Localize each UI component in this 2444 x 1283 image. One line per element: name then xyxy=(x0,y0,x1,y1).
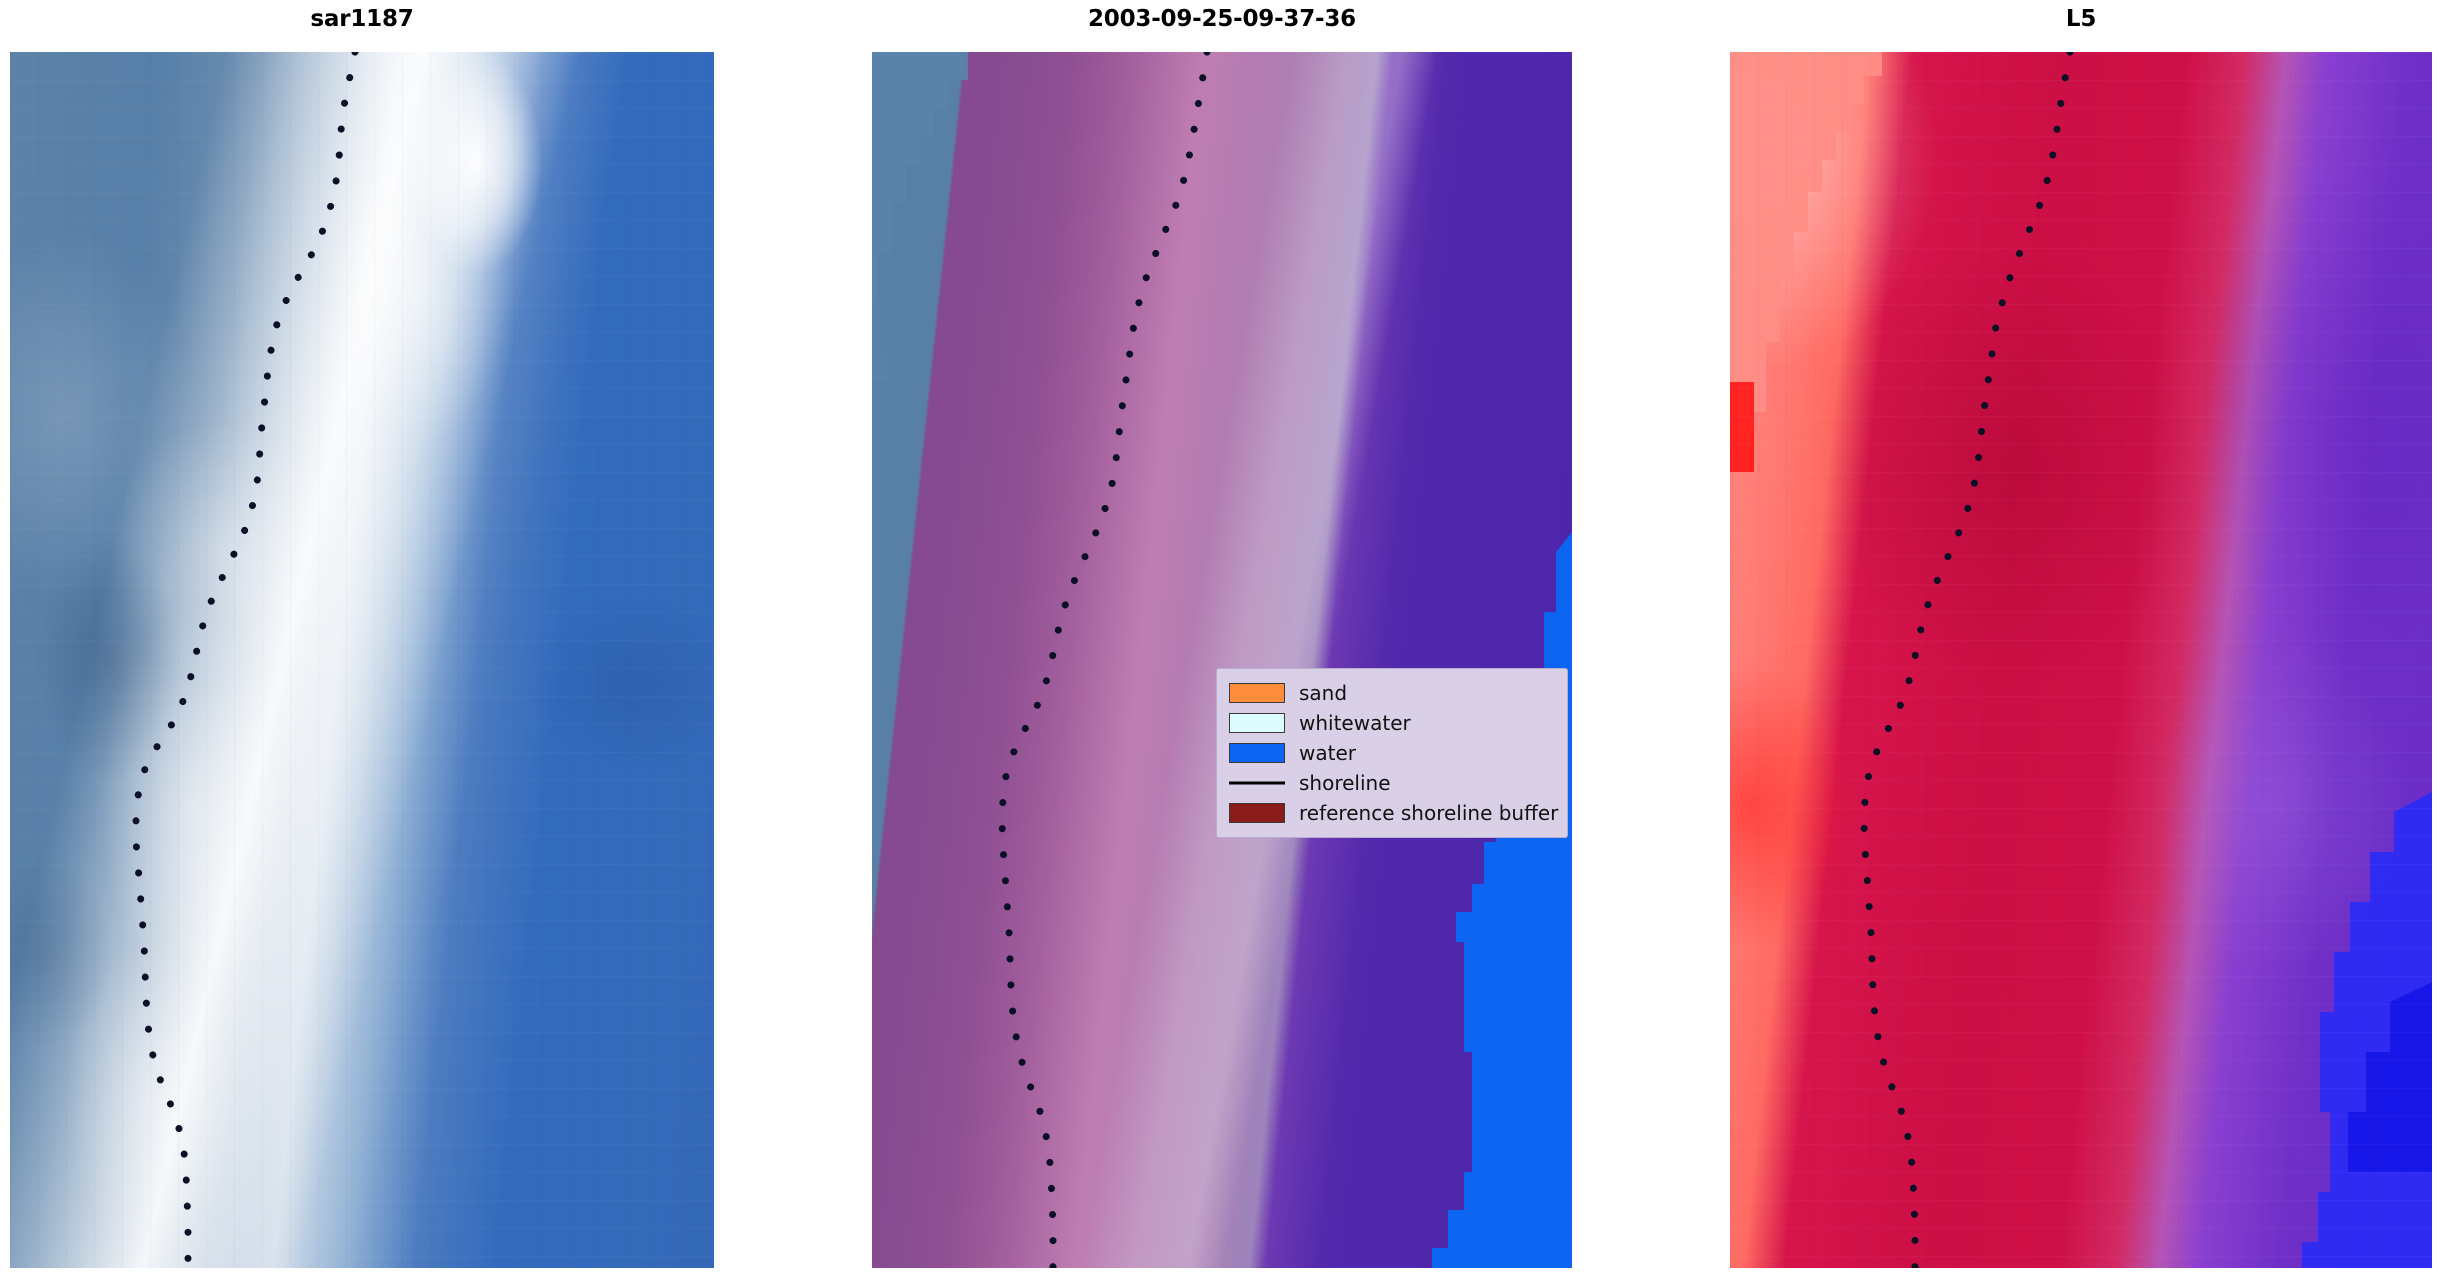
l5-pixel-grid xyxy=(1730,52,2432,1268)
whitewater-swatch-icon xyxy=(1229,713,1285,733)
panel-satellite-l5: L5 xyxy=(1730,0,2432,1283)
panel-image-sar[interactable] xyxy=(10,52,714,1268)
panel-title-sar: sar1187 xyxy=(10,4,714,34)
legend-item-shoreline[interactable]: shoreline xyxy=(1229,768,1557,798)
panel-image-classified[interactable]: sand whitewater water shoreline referenc… xyxy=(872,52,1572,1268)
panel-classified-image: 2003-09-25-09-37-36 sand xyxy=(872,0,1572,1283)
legend-item-water[interactable]: water xyxy=(1229,738,1557,768)
legend-item-reference-buffer[interactable]: reference shoreline buffer xyxy=(1229,798,1557,828)
legend-label-water: water xyxy=(1299,742,1356,764)
sand-swatch-icon xyxy=(1229,683,1285,703)
panel-title-l5: L5 xyxy=(1730,4,2432,34)
sar-pixel-grid xyxy=(10,52,714,1268)
legend-label-whitewater: whitewater xyxy=(1299,712,1411,734)
panel-title-classified: 2003-09-25-09-37-36 xyxy=(872,4,1572,34)
water-swatch-icon xyxy=(1229,743,1285,763)
figure-canvas: sar1187 2003-09-25-09-37-36 xyxy=(0,0,2444,1283)
legend-label-shoreline: shoreline xyxy=(1299,772,1391,794)
classified-region-shapes xyxy=(872,52,1572,1268)
shoreline-line-icon xyxy=(1229,773,1285,793)
reference-buffer-swatch-icon xyxy=(1229,803,1285,823)
legend-box[interactable]: sand whitewater water shoreline referenc… xyxy=(1216,668,1568,838)
legend-item-whitewater[interactable]: whitewater xyxy=(1229,708,1557,738)
panel-sar-image: sar1187 xyxy=(10,0,714,1283)
legend-label-sand: sand xyxy=(1299,682,1347,704)
legend-label-reference-buffer: reference shoreline buffer xyxy=(1299,802,1558,824)
legend-item-sand[interactable]: sand xyxy=(1229,678,1557,708)
panel-image-l5[interactable] xyxy=(1730,52,2432,1268)
